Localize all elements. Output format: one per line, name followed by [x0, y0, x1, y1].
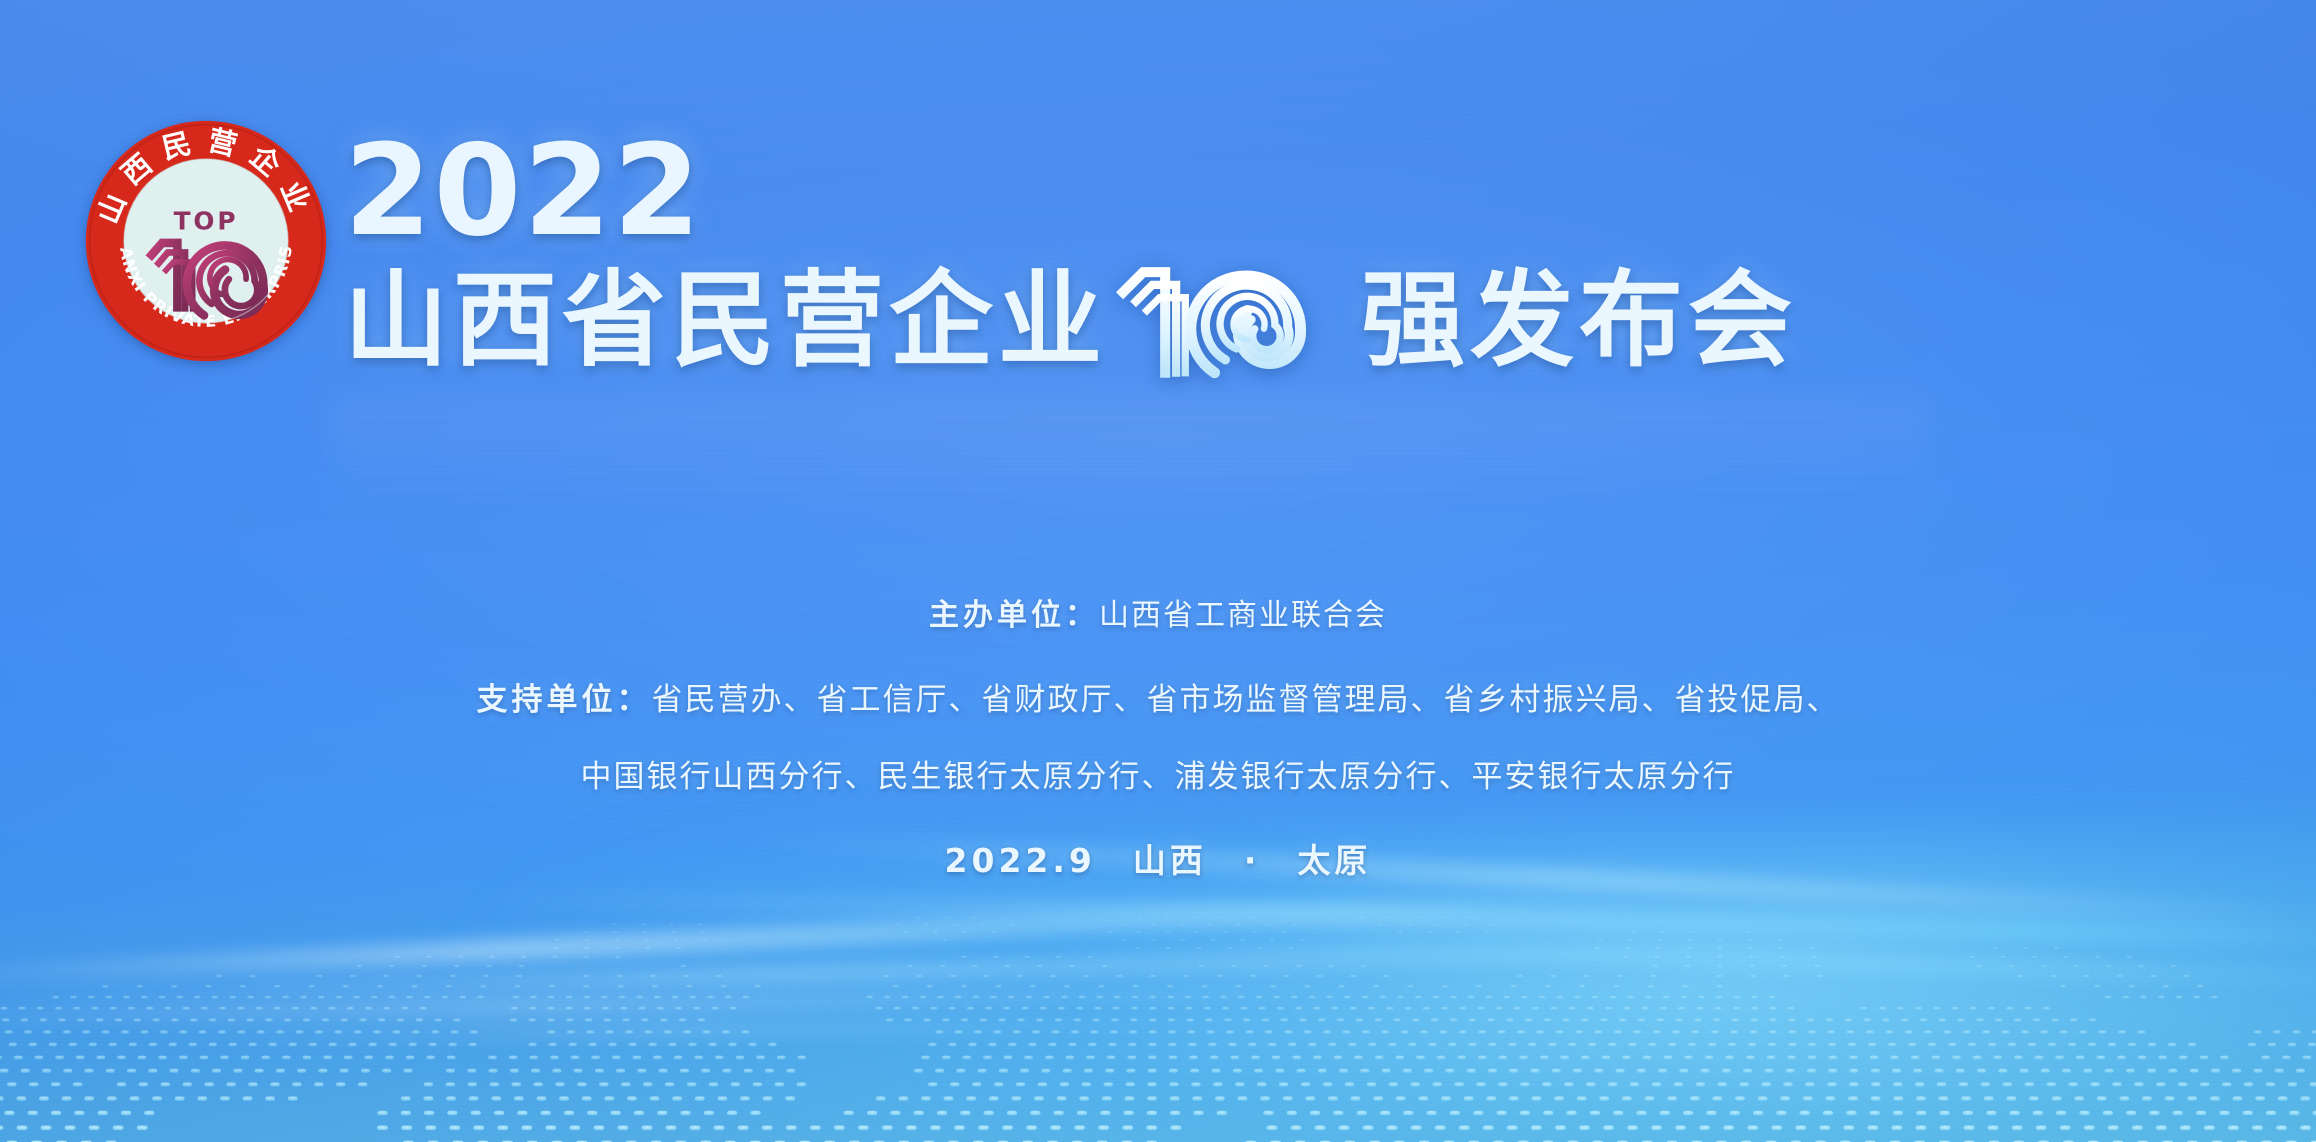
host-label: 主办单位：: [929, 598, 1099, 633]
support-line-2: 中国银行山西分行、民生银行太原分行、浦发银行太原分行、平安银行太原分行: [0, 751, 2316, 796]
title-row: 山西省民营企业: [344, 256, 2244, 384]
year-heading: 2022: [344, 128, 2244, 254]
hundred-logo: [1111, 252, 1351, 380]
title-reflection-glow: [330, 395, 1930, 515]
title-main: 山西省民营企业: [344, 268, 1107, 372]
headline-block: 2022 山西省民营企业: [344, 128, 2244, 384]
support-value-1: 省民营办、省工信厅、省财政厅、省市场监督管理局、省乡村振兴局、省投促局、: [652, 682, 1840, 718]
dotted-world-map: [0, 842, 2316, 1142]
host-value: 山西省工商业联合会: [1099, 598, 1387, 633]
support-label: 支持单位：: [477, 682, 652, 718]
title-tail: 强发布会: [1361, 268, 1797, 372]
host-line: 主办单位：山西省工商业联合会: [0, 590, 2316, 634]
shanxi-top10-emblem: 山西民营企业 SHANXI PRIVATE ENTERPRISES TOP: [82, 117, 330, 365]
date-place-line: 2022.9 山西 · 太原: [0, 834, 2316, 882]
svg-text:TOP: TOP: [174, 207, 239, 236]
poster-stage: 山西民营企业 SHANXI PRIVATE ENTERPRISES TOP 20…: [0, 0, 2316, 1142]
support-line-1: 支持单位：省民营办、省工信厅、省财政厅、省市场监督管理局、省乡村振兴局、省投促局…: [0, 674, 2316, 719]
info-block: 主办单位：山西省工商业联合会 支持单位：省民营办、省工信厅、省财政厅、省市场监督…: [0, 590, 2316, 882]
